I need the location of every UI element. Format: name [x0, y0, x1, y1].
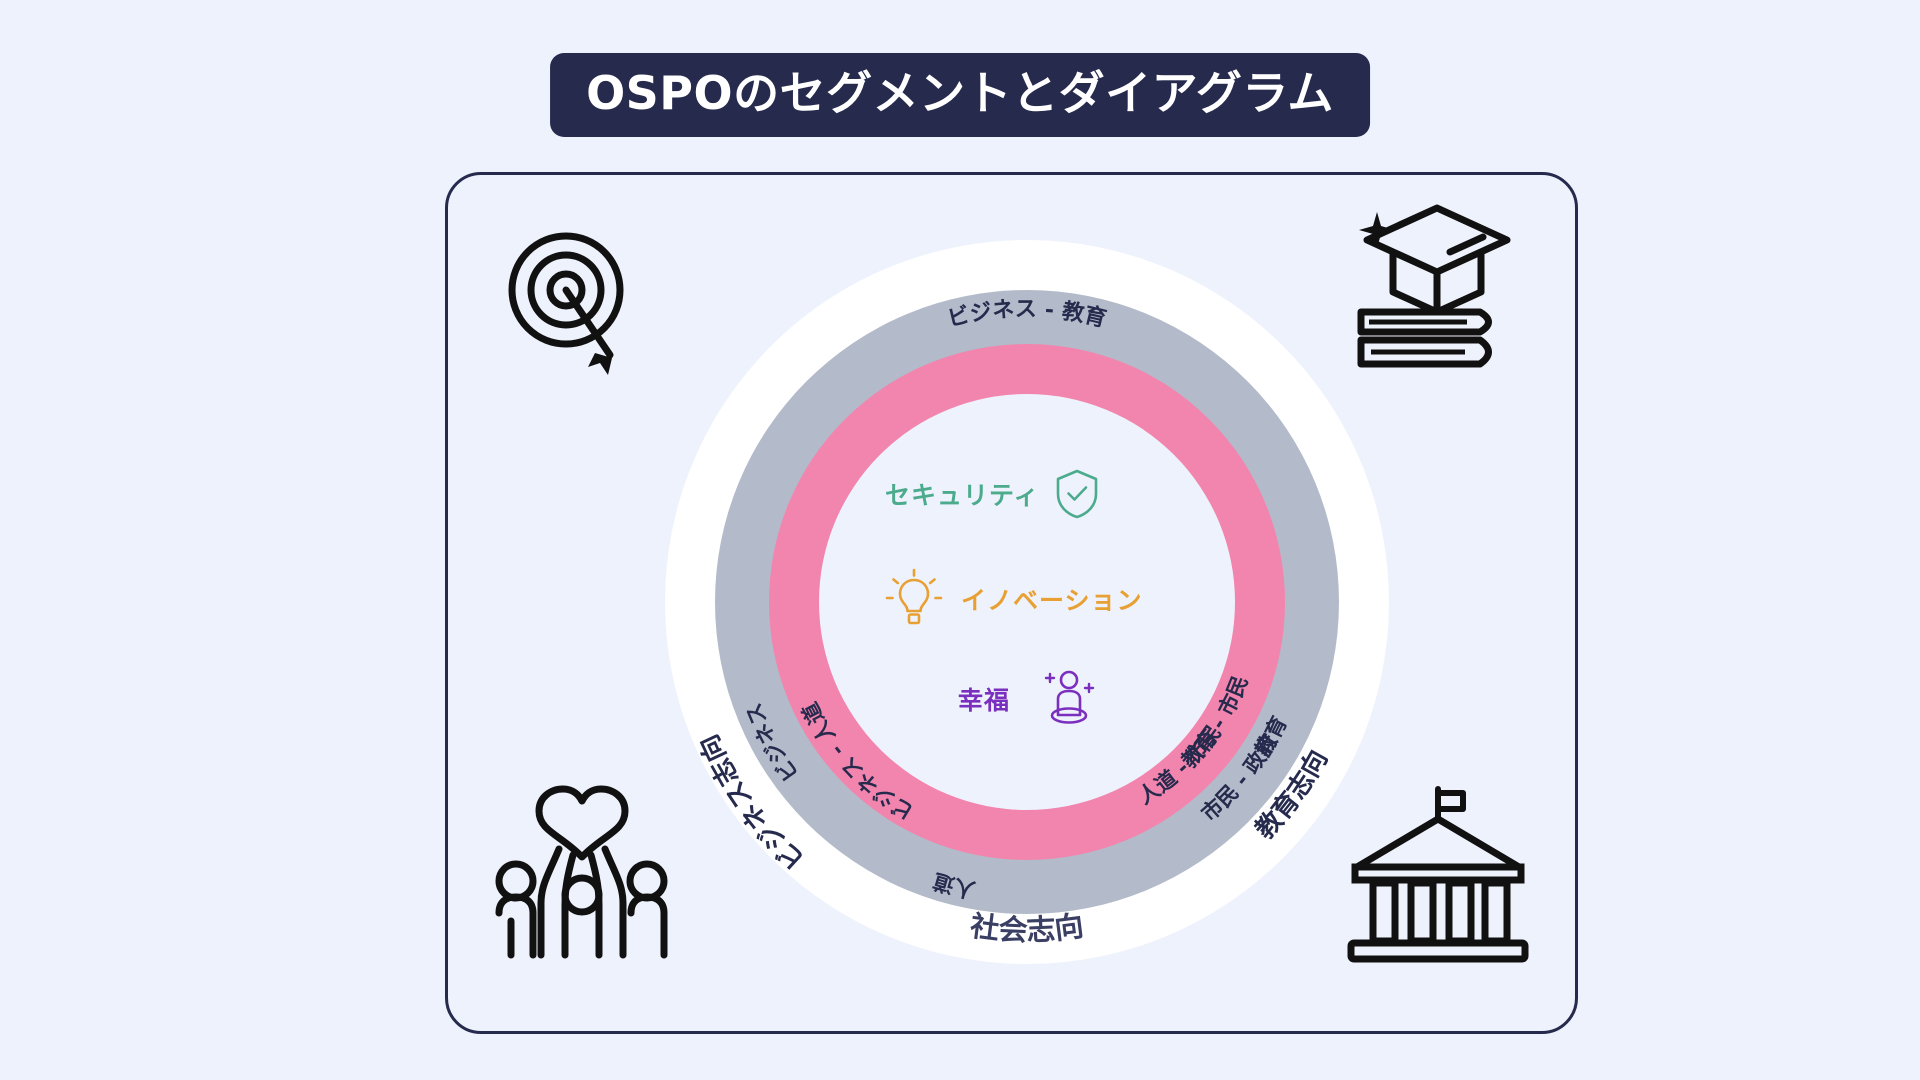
core-item-innovation-label: イノベーション [961, 581, 1143, 617]
core-item-security-label: セキュリティ [885, 476, 1040, 512]
community-heart-icon [495, 785, 670, 969]
outer-ring-label-society: 社会志向 [968, 909, 1085, 948]
person-sparkle-icon [1038, 668, 1100, 730]
core-item-innovation: イノベーション [885, 568, 1143, 630]
svg-text:社会志向: 社会志向 [968, 909, 1085, 948]
graduation-books-icon [1355, 200, 1520, 389]
core-item-security: セキュリティ [885, 468, 1100, 520]
core-item-happiness-label: 幸福 [958, 681, 1010, 717]
target-arrow-icon [500, 225, 645, 394]
shield-check-icon [1054, 468, 1100, 520]
core-item-happiness: 幸福 [958, 668, 1100, 730]
lightbulb-icon [885, 568, 943, 630]
page-title-banner: OSPOのセグメントとダイアグラム [550, 53, 1370, 137]
page-title: OSPOのセグメントとダイアグラム [586, 70, 1334, 116]
government-building-icon [1345, 785, 1530, 969]
